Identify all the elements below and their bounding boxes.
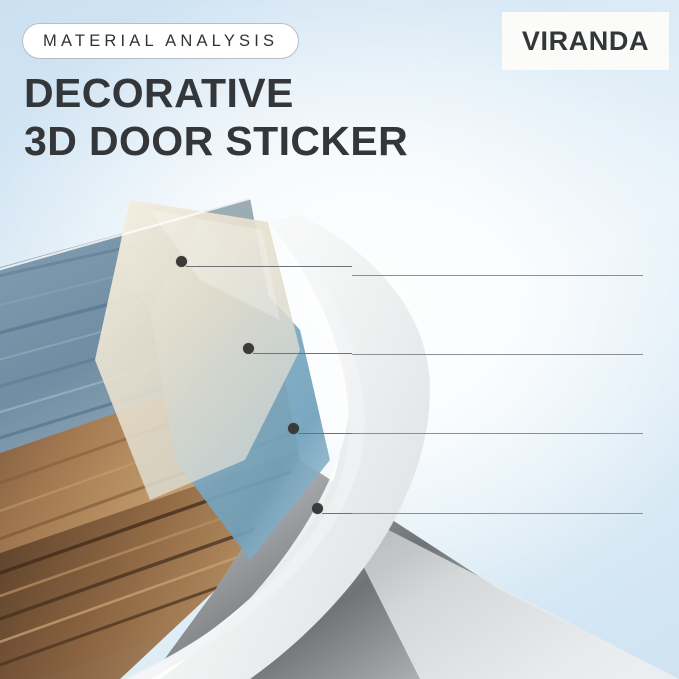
brand-logo: VIRANDA (502, 12, 669, 70)
callout-underline-1 (352, 275, 643, 276)
brand-name: VIRANDA (522, 26, 649, 57)
product-illustration (0, 160, 679, 679)
infographic-canvas: MATERIAL ANALYSIS DECORATIVE 3D DOOR STI… (0, 0, 679, 679)
callout-underline-2 (352, 354, 643, 355)
callout-leader-line-3 (298, 433, 352, 434)
callout-underline-3 (352, 433, 643, 434)
callout-leader-line-2 (253, 353, 352, 354)
page-title: DECORATIVE 3D DOOR STICKER (24, 70, 408, 166)
callout-leader-line-1 (186, 266, 352, 267)
callout-underline-4 (352, 513, 643, 514)
section-badge: MATERIAL ANALYSIS (22, 23, 299, 59)
callout-leader-line-4 (322, 513, 352, 514)
